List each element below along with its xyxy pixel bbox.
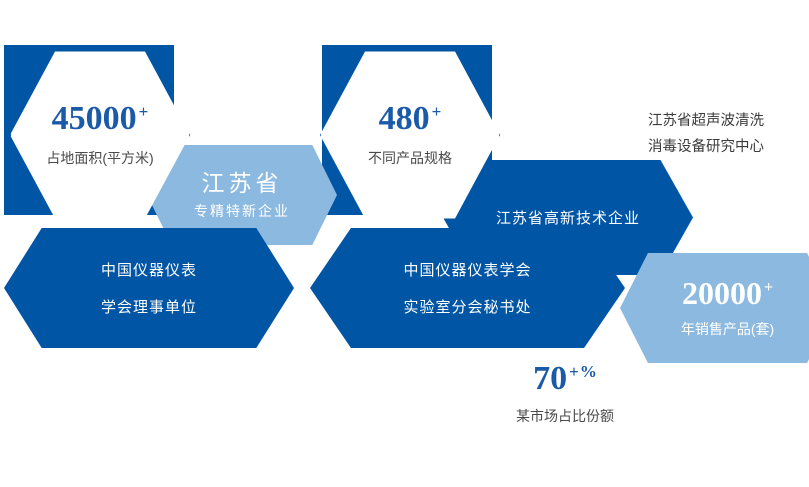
stat-specs-value: 480 (379, 100, 430, 137)
text-research-center-line1: 江苏省超声波清洗 (648, 108, 764, 134)
badge-instrument-society[interactable]: 中国仪器仪表 学会理事单位 (4, 228, 294, 348)
stat-market-share-value: 70 (533, 360, 567, 397)
stat-area-suffix: + (139, 102, 149, 121)
stat-annual-sales-label: 年销售产品(套) (681, 319, 774, 339)
badge-lab-branch-line2: 实验室分会秘书处 (403, 296, 531, 317)
stat-card-annual-sales[interactable]: 20000+ 年销售产品(套) (620, 253, 809, 363)
stat-annual-sales-value: 20000 (682, 275, 762, 311)
infographic-canvas: 江苏省 专精特新企业 江苏省高新技术企业 45000+ 占地面积(平方米) 48… (0, 0, 809, 487)
badge-instrument-society-line2: 学会理事单位 (101, 296, 197, 317)
stat-market-share-suffix: + (569, 362, 579, 381)
stat-area-number: 45000+ (52, 102, 149, 136)
badge-lab-branch[interactable]: 中国仪器仪表学会 实验室分会秘书处 (310, 228, 625, 348)
badge-province-subtitle: 专精特新企业 (194, 204, 290, 218)
badge-province-title: 江苏省 (202, 172, 283, 195)
stat-area-value: 45000 (52, 100, 137, 137)
stat-specs-label: 不同产品规格 (368, 148, 452, 168)
stat-specs-suffix: + (432, 102, 442, 121)
stat-market-share-number: 70+% (470, 362, 660, 396)
badge-lab-branch-line1: 中国仪器仪表学会 (403, 259, 531, 280)
stat-annual-sales-suffix: + (764, 279, 773, 296)
stat-annual-sales-number: 20000+ (682, 277, 773, 309)
stat-market-share-percent: % (580, 362, 597, 381)
stat-area-label: 占地面积(平方米) (46, 148, 153, 168)
badge-instrument-society-line1: 中国仪器仪表 (101, 259, 197, 280)
stat-market-share-label: 某市场占比份额 (470, 406, 660, 426)
stat-card-market-share[interactable]: 70+% 某市场占比份额 (470, 362, 660, 426)
badge-lab-branch-label: 中国仪器仪表学会 实验室分会秘书处 (403, 259, 531, 317)
stat-specs-number: 480+ (379, 102, 442, 136)
text-research-center-line2: 消毒设备研究中心 (648, 134, 764, 160)
badge-high-tech-label: 江苏省高新技术企业 (496, 207, 640, 228)
badge-instrument-society-label: 中国仪器仪表 学会理事单位 (101, 259, 197, 317)
text-research-center: 江苏省超声波清洗 消毒设备研究中心 (648, 108, 764, 160)
